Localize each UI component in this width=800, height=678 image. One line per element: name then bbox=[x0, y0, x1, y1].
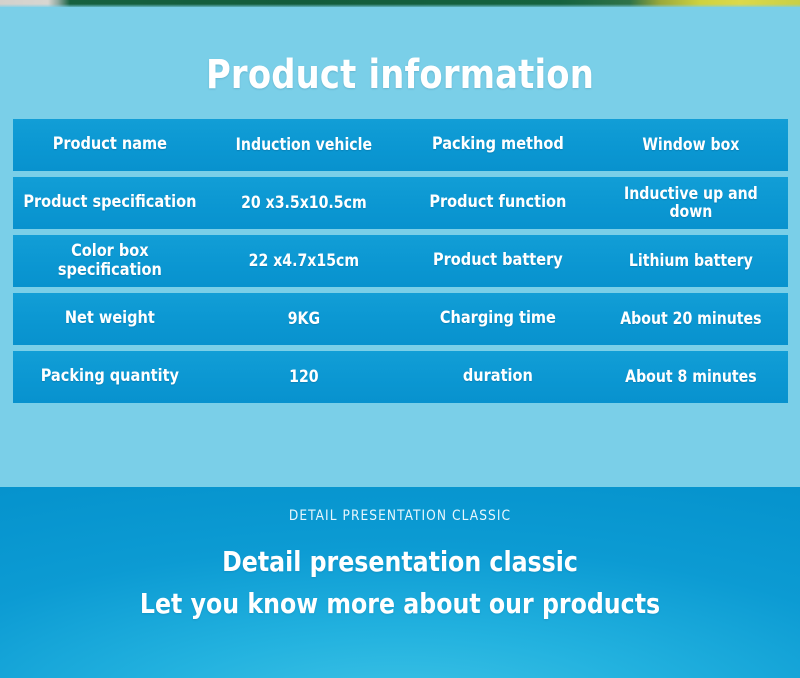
spec-label-color-box-specification: Color box specification bbox=[18, 235, 202, 287]
spec-value-charging-time: About 20 minutes bbox=[599, 293, 783, 345]
spec-label-charging-time: Charging time bbox=[405, 293, 589, 345]
spec-value-duration: About 8 minutes bbox=[599, 351, 783, 403]
spec-value-color-box-specification: 22 x4.7x15cm bbox=[212, 235, 396, 287]
spec-label-packing-method: Packing method bbox=[405, 119, 589, 171]
table-row: Color box specification 22 x4.7x15cm Pro… bbox=[13, 235, 788, 287]
product-spec-table: Product name Induction vehicle Packing m… bbox=[13, 119, 788, 409]
spec-value-net-weight: 9KG bbox=[212, 293, 396, 345]
top-image-bleed-fade bbox=[0, 4, 800, 8]
table-row: Net weight 9KG Charging time About 20 mi… bbox=[13, 293, 788, 345]
table-row: Packing quantity 120 duration About 8 mi… bbox=[13, 351, 788, 403]
spec-label-net-weight: Net weight bbox=[18, 293, 202, 345]
spec-value-packing-method: Window box bbox=[599, 119, 783, 171]
page-title: Product information bbox=[24, 54, 776, 96]
spec-value-product-function: Inductive up and down bbox=[599, 177, 783, 229]
spec-label-duration: duration bbox=[405, 351, 589, 403]
spec-value-product-name: Induction vehicle bbox=[212, 119, 396, 171]
spec-value-product-battery: Lithium battery bbox=[599, 235, 783, 287]
product-information-page: Product information Product name Inducti… bbox=[0, 0, 800, 678]
spec-label-product-name: Product name bbox=[18, 119, 202, 171]
banner-headline-secondary: Let you know more about our products bbox=[24, 587, 776, 620]
spec-value-packing-quantity: 120 bbox=[212, 351, 396, 403]
detail-presentation-banner: DETAIL PRESENTATION CLASSIC Detail prese… bbox=[0, 487, 800, 678]
table-row: Product name Induction vehicle Packing m… bbox=[13, 119, 788, 171]
spec-value-product-specification: 20 x3.5x10.5cm bbox=[212, 177, 396, 229]
spec-label-packing-quantity: Packing quantity bbox=[18, 351, 202, 403]
banner-eyebrow-text: DETAIL PRESENTATION CLASSIC bbox=[12, 508, 788, 524]
spec-label-product-specification: Product specification bbox=[18, 177, 202, 229]
banner-headline-primary: Detail presentation classic bbox=[24, 545, 776, 578]
table-row: Product specification 20 x3.5x10.5cm Pro… bbox=[13, 177, 788, 229]
spec-label-product-battery: Product battery bbox=[405, 235, 589, 287]
spec-label-product-function: Product function bbox=[405, 177, 589, 229]
